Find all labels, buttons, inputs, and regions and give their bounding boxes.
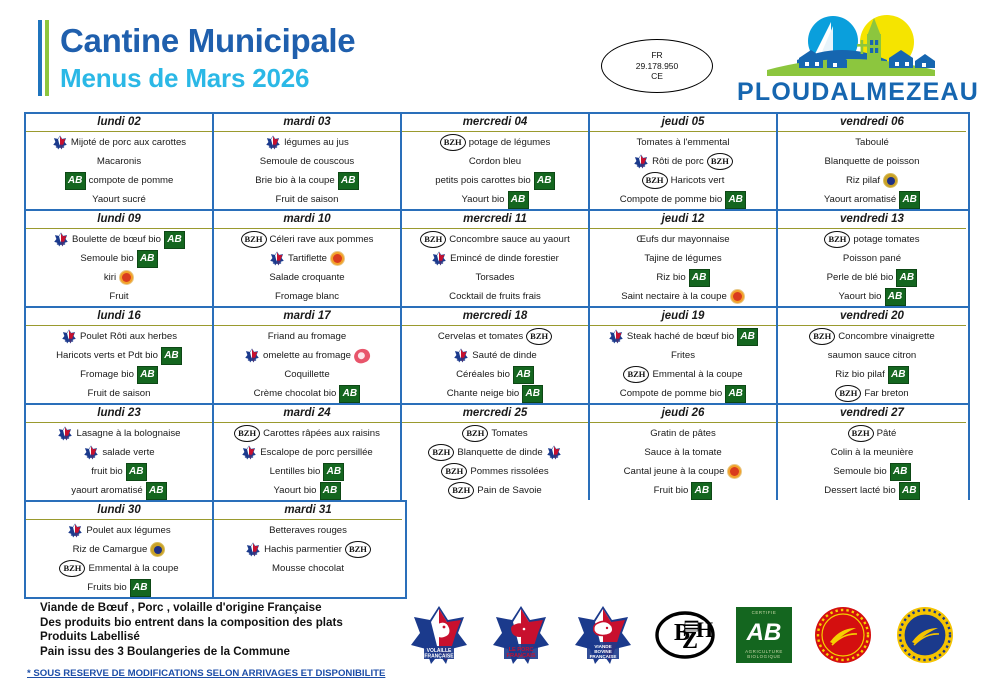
dish-label: Compote de pomme bio [620, 194, 722, 205]
menu-day-cell: jeudi 12Œufs dur mayonnaiseTajine de lég… [590, 211, 778, 306]
ab-icon: AB [130, 579, 151, 597]
approval-ce: CE [651, 71, 663, 82]
day-dish-list: Boulette de bœuf bioABSemoule bioABkiriF… [26, 229, 212, 306]
cheese-icon [119, 270, 134, 285]
bzh-letters: BZH [441, 135, 465, 150]
dish-label: Steak haché de bœuf bio [627, 331, 734, 342]
ab-icon: AB [522, 385, 543, 403]
dish-label: Œufs dur mayonnaise [636, 234, 729, 245]
ab-bottom-caption: AGRICULTURE BIOLOGIQUE [736, 649, 792, 659]
menu-day-cell: mercredi 04BZHpotage de légumesCordon bl… [402, 114, 590, 209]
ab-letters: AB [131, 580, 150, 596]
menu-day-cell: lundi 16Poulet Rôti aux herbesHaricots v… [26, 308, 214, 403]
ab-icon: AB [513, 366, 534, 384]
dish-label: Carottes râpées aux raisins [263, 428, 380, 439]
dish-label: Fromage bio [80, 369, 134, 380]
ab-icon: AB [888, 366, 909, 384]
menu-day-cell: lundi 23Lasagne à la bolognaisesalade ve… [26, 405, 214, 500]
day-dish-list: BZHCéleri rave aux pommesTartifletteSala… [214, 229, 400, 306]
dish-label: Emmental à la coupe [88, 563, 178, 574]
day-header: mardi 17 [214, 308, 400, 326]
day-header: jeudi 12 [590, 211, 776, 229]
bzh-icon: BZH [428, 444, 454, 461]
ab-letters: AB [523, 386, 542, 402]
menu-dish-row: omelette au fromage [216, 346, 398, 365]
day-header: mercredi 18 [402, 308, 588, 326]
day-header: mercredi 11 [402, 211, 588, 229]
ab-letters: AB [66, 173, 85, 189]
menu-dish-row: Riz bioAB [592, 268, 774, 287]
dish-label: Colin à la meunière [831, 447, 914, 458]
star-icon [608, 329, 624, 344]
dish-label: Semoule bio [833, 466, 886, 477]
menu-dish-row: Fruits bioAB [28, 578, 210, 597]
volaille-francaise-logo: VOLAILLE FRANÇAISE [408, 604, 470, 666]
dish-label: Riz de Camargue [73, 544, 148, 555]
dish-label: Yaourt sucré [92, 194, 146, 205]
day-header: lundi 09 [26, 211, 212, 229]
menu-dish-row: BZHBlanquette de dinde [404, 443, 586, 462]
dish-label: Crème chocolat bio [254, 388, 337, 399]
ab-letters: AB [138, 367, 157, 383]
ab-icon: AB [65, 172, 86, 190]
menu-dish-row: Boulette de bœuf bioAB [28, 230, 210, 249]
star-icon [453, 348, 469, 363]
cheese-icon [727, 464, 742, 479]
menu-week-row: lundi 02Mijoté de porc aux carottesMacar… [24, 112, 970, 209]
menu-dish-row: Poulet aux légumes [28, 521, 210, 540]
svg-text:FRANÇAISE: FRANÇAISE [424, 654, 454, 660]
footer-note: Viande de Bœuf , Porc , volaille d'origi… [40, 601, 343, 616]
dish-label: Céleri rave aux pommes [270, 234, 374, 245]
ab-icon: AB [725, 385, 746, 403]
dish-label: Cordon bleu [469, 156, 521, 167]
menu-dish-row: Cocktail de fruits frais [404, 287, 586, 306]
day-dish-list: Mijoté de porc aux carottesMacaronisABco… [26, 132, 212, 209]
menu-dish-row: BZHTomates [404, 424, 586, 443]
cheese-icon [330, 251, 345, 266]
menu-dish-row: BZHpotage tomates [780, 230, 964, 249]
menu-dish-row: Escalope de porc persillée [216, 443, 398, 462]
sanitary-approval-stamp: FR 29.178.950 CE [601, 39, 713, 93]
dish-label: Fromage blanc [275, 291, 339, 302]
dish-label: Cantal jeune à la coupe [624, 466, 725, 477]
menu-day-cell: lundi 02Mijoté de porc aux carottesMacar… [26, 114, 214, 209]
menu-dish-row: BZHCéleri rave aux pommes [216, 230, 398, 249]
ploudalmezeau-wordmark: PLOUDALMEZEAU [737, 78, 957, 107]
menu-dish-row: Lasagne à la bolognaise [28, 424, 210, 443]
menu-dish-row: Œufs dur mayonnaise [592, 230, 774, 249]
cheese-icon [730, 289, 745, 304]
day-header: vendredi 20 [778, 308, 966, 326]
ab-agriculture-biologique-logo: CERTIFIE AB AGRICULTURE BIOLOGIQUE [736, 607, 792, 663]
menu-dish-row: Perle de blé bioAB [780, 268, 964, 287]
ab-letters: AB [535, 173, 554, 189]
day-dish-list: légumes au jusSemoule de couscousBrie bi… [214, 132, 400, 209]
day-dish-list: Friand au fromageomelette au fromageCoqu… [214, 326, 400, 403]
menu-dish-row: Fruit bioAB [592, 481, 774, 500]
dish-label: Salade croquante [269, 272, 344, 283]
ab-icon: AB [137, 250, 158, 268]
menu-dish-row: Hachis parmentierBZH [216, 540, 400, 559]
dish-label: Yaourt bio [838, 291, 881, 302]
dish-label: Riz bio [656, 272, 685, 283]
bzh-icon: BZH [623, 366, 649, 383]
day-header: vendredi 27 [778, 405, 966, 423]
dish-label: Sauté de dinde [472, 350, 537, 361]
dish-label: Concombre vinaigrette [838, 331, 935, 342]
ab-icon: AB [534, 172, 555, 190]
menu-dish-row: Fromage blanc [216, 287, 398, 306]
dish-label: Macaronis [97, 156, 141, 167]
star-icon [83, 445, 99, 460]
dish-label: Haricots verts et Pdt bio [56, 350, 158, 361]
day-header: mardi 31 [214, 502, 402, 520]
ab-icon: AB [323, 463, 344, 481]
page-title: Cantine Municipale [60, 22, 355, 60]
dish-label: Semoule de couscous [260, 156, 354, 167]
menu-day-cell: mardi 10BZHCéleri rave aux pommesTartifl… [214, 211, 402, 306]
dish-label: Riz bio pilaf [835, 369, 885, 380]
menu-dish-row: Semoule bioAB [28, 249, 210, 268]
menu-week-row: lundi 09Boulette de bœuf bioABSemoule bi… [24, 209, 970, 306]
day-header: lundi 23 [26, 405, 212, 423]
ab-letters: AB [340, 386, 359, 402]
menu-dish-row: Emincé de dinde forestier [404, 249, 586, 268]
star-icon [633, 154, 649, 169]
menu-dish-row: BZHHaricots vert [592, 171, 774, 190]
star-icon [431, 251, 447, 266]
bzh-letters: BZH [810, 329, 834, 344]
ab-icon: AB [164, 231, 185, 249]
dish-label: Friand au fromage [268, 331, 346, 342]
ab-letters: AB [514, 367, 533, 383]
bzh-icon: BZH [441, 463, 467, 480]
menu-day-cell: vendredi 20BZHConcombre vinaigrettesaumo… [778, 308, 966, 403]
bzh-icon: BZH [462, 425, 488, 442]
menu-dish-row: ABcompote de pomme [28, 171, 210, 190]
menu-dish-row: Yaourt bioAB [216, 481, 398, 500]
day-dish-list: TabouléBlanquette de poissonRiz pilafYao… [778, 132, 966, 209]
bzh-icon: BZH [809, 328, 835, 345]
menu-dish-row: légumes au jus [216, 133, 398, 152]
menu-dish-row: Crème chocolat bioAB [216, 384, 398, 403]
ab-icon: AB [126, 463, 147, 481]
aop-logo [812, 604, 874, 666]
menu-dish-row: Chante neige bioAB [404, 384, 586, 403]
star-icon [244, 348, 260, 363]
menu-week-row: lundi 30Poulet aux légumesRiz de Camargu… [24, 500, 407, 599]
bzh-icon: BZH [835, 385, 861, 402]
day-header: vendredi 06 [778, 114, 966, 132]
accent-bar-blue [38, 20, 42, 96]
dish-label: Céréales bio [456, 369, 510, 380]
menu-dish-row: Riz bio pilafAB [780, 365, 964, 384]
day-header: vendredi 13 [778, 211, 966, 229]
approval-number: 29.178.950 [636, 61, 679, 72]
dish-label: Blanquette de dinde [457, 447, 542, 458]
ab-letters: AB [889, 367, 908, 383]
bzh-letters: BZH [60, 561, 84, 576]
menu-dish-row: Coquillette [216, 365, 398, 384]
egg-icon [352, 346, 372, 365]
day-header: lundi 02 [26, 114, 212, 132]
dish-label: Poisson pané [843, 253, 901, 264]
ab-icon: AB [890, 463, 911, 481]
ab-letters: AB [147, 483, 166, 499]
ab-letters: AB [509, 192, 528, 208]
ab-letters: AB [138, 251, 157, 267]
star-icon [52, 135, 68, 150]
menu-dish-row: BZHPommes rissolées [404, 462, 586, 481]
svg-text:H: H [696, 617, 713, 642]
bzh-letters: BZH [825, 232, 849, 247]
bzh-icon: BZH [642, 172, 668, 189]
menu-dish-row: BZHConcombre sauce au yaourt [404, 230, 586, 249]
dish-label: Fruit [109, 291, 128, 302]
menu-day-cell: vendredi 27BZHPâtéColin à la meunièreSem… [778, 405, 966, 500]
menu-dish-row: Mijoté de porc aux carottes [28, 133, 210, 152]
star-icon [61, 329, 77, 344]
star-icon [67, 523, 83, 538]
dish-label: Mijoté de porc aux carottes [71, 137, 186, 148]
menu-dish-row: petits pois carottes bioAB [404, 171, 586, 190]
bzh-icon: BZH [848, 425, 874, 442]
dish-label: Tomates [491, 428, 527, 439]
dish-label: Brie bio à la coupe [255, 175, 334, 186]
day-header: mercredi 04 [402, 114, 588, 132]
menu-day-cell: mardi 31Betteraves rougesHachis parmenti… [214, 502, 402, 597]
day-dish-list: Tomates à l'emmentalRôti de porcBZHBZHHa… [590, 132, 776, 209]
dish-label: Pâté [877, 428, 897, 439]
menu-day-cell: lundi 09Boulette de bœuf bioABSemoule bi… [26, 211, 214, 306]
dish-label: Mousse chocolat [272, 563, 344, 574]
ab-letters: AB [738, 329, 757, 345]
footer-note: Produits Labellisé [40, 630, 343, 645]
day-header: jeudi 26 [590, 405, 776, 423]
ab-letters: AB [736, 620, 792, 646]
menu-dish-row: Yaourt aromatiséAB [780, 190, 964, 209]
ab-letters: AB [339, 173, 358, 189]
day-dish-list: BZHPâtéColin à la meunièreSemoule bioABD… [778, 423, 966, 500]
bzh-letters: BZH [849, 426, 873, 441]
ab-icon: AB [338, 172, 359, 190]
bzh-letters: BZH [429, 445, 453, 460]
menu-dish-row: Compote de pomme bioAB [592, 190, 774, 209]
menu-dish-row: BZHEmmental à la coupe [28, 559, 210, 578]
day-dish-list: Poulet aux légumesRiz de CamargueBZHEmme… [26, 520, 212, 597]
day-header: jeudi 19 [590, 308, 776, 326]
day-header: jeudi 05 [590, 114, 776, 132]
dish-label: Frites [671, 350, 695, 361]
menu-dish-row: Dessert lacté bioAB [780, 481, 964, 500]
title-accent-bars [38, 20, 50, 96]
menu-dish-row: Colin à la meunière [780, 443, 964, 462]
menu-dish-row: Poisson pané [780, 249, 964, 268]
menu-dish-row: BZHConcombre vinaigrette [780, 327, 964, 346]
ab-icon: AB [725, 191, 746, 209]
dish-label: Tajine de légumes [644, 253, 721, 264]
menu-dish-row: Blanquette de poisson [780, 152, 964, 171]
ab-letters: AB [321, 483, 340, 499]
menu-dish-row: Semoule bioAB [780, 462, 964, 481]
bzh-letters: BZH [708, 154, 732, 169]
ab-letters: AB [886, 289, 905, 305]
fish-icon [883, 173, 898, 188]
reserve-notice: * SOUS RESERVE DE MODIFICATIONS SELON AR… [27, 668, 385, 679]
bzh-letters: BZH [346, 542, 370, 557]
dish-label: Blanquette de poisson [825, 156, 920, 167]
day-dish-list: BZHpotage de légumesCordon bleupetits po… [402, 132, 588, 209]
dish-label: Saint nectaire à la coupe [621, 291, 727, 302]
dish-label: Perle de blé bio [827, 272, 894, 283]
menu-dish-row: Fruit [28, 287, 210, 306]
menu-dish-row: saumon sauce citron [780, 346, 964, 365]
igp-logo [894, 604, 956, 666]
page-header: Cantine Municipale Menus de Mars 2026 FR… [0, 0, 994, 108]
ab-letters: AB [891, 464, 910, 480]
menu-dish-row: Saint nectaire à la coupe [592, 287, 774, 306]
menu-dish-row: Gratin de pâtes [592, 424, 774, 443]
menu-dish-row: Rôti de porcBZH [592, 152, 774, 171]
ab-icon: AB [689, 269, 710, 287]
certification-logos: VOLAILLE FRANÇAISE LE PORC FRANÇAIS [408, 604, 956, 666]
dish-label: Fruit de saison [88, 388, 151, 399]
dish-label: Cocktail de fruits frais [449, 291, 541, 302]
dish-label: Concombre sauce au yaourt [449, 234, 570, 245]
menu-dish-row: kiri [28, 268, 210, 287]
dish-label: Riz pilaf [846, 175, 880, 186]
dish-label: Emmental à la coupe [652, 369, 742, 380]
ploudalmezeau-emblem [737, 14, 957, 80]
day-dish-list: BZHCarottes râpées aux raisinsEscalope d… [214, 423, 400, 500]
menu-day-cell: mardi 03légumes au jusSemoule de couscou… [214, 114, 402, 209]
day-dish-list: Gratin de pâtesSauce à la tomateCantal j… [590, 423, 776, 500]
star-icon [241, 445, 257, 460]
day-dish-list: BZHConcombre vinaigrettesaumon sauce cit… [778, 326, 966, 403]
day-dish-list: Lasagne à la bolognaisesalade vertefruit… [26, 423, 212, 500]
ab-icon: AB [320, 482, 341, 500]
ab-top-caption: CERTIFIE [736, 610, 792, 615]
menu-dish-row: Cordon bleu [404, 152, 586, 171]
menu-dish-row [216, 578, 400, 597]
menu-week-row: lundi 23Lasagne à la bolognaisesalade ve… [24, 403, 970, 500]
bzh-icon: BZH [241, 231, 267, 248]
day-header: lundi 16 [26, 308, 212, 326]
bzh-icon: BZH [59, 560, 85, 577]
menu-dish-row: Tartiflette [216, 249, 398, 268]
ab-icon: AB [146, 482, 167, 500]
ab-letters: AB [726, 192, 745, 208]
bzh-letters: BZH [235, 426, 259, 441]
dish-label: Fruit bio [654, 485, 689, 496]
fish-icon [150, 542, 165, 557]
dish-label: kiri [104, 272, 116, 283]
ab-icon: AB [899, 191, 920, 209]
menu-dish-row: Céréales bioAB [404, 365, 586, 384]
dish-label: compote de pomme [89, 175, 174, 186]
dish-label: Poulet aux légumes [86, 525, 170, 536]
dish-label: petits pois carottes bio [435, 175, 530, 186]
menu-dish-row: fruit bioAB [28, 462, 210, 481]
menu-dish-row: Fruit de saison [28, 384, 210, 403]
menu-day-cell: jeudi 05Tomates à l'emmentalRôti de porc… [590, 114, 778, 209]
ab-letters: AB [127, 464, 146, 480]
menu-dish-row: BZHFar breton [780, 384, 964, 403]
menu-dish-row: BZHEmmental à la coupe [592, 365, 774, 384]
dish-label: Cervelas et tomates [438, 331, 523, 342]
dish-label: Fruit de saison [276, 194, 339, 205]
menu-dish-row: Riz de Camargue [28, 540, 210, 559]
menu-dish-row: salade verte [28, 443, 210, 462]
ab-icon: AB [508, 191, 529, 209]
dish-label: Far breton [864, 388, 908, 399]
dish-label: Tartiflette [288, 253, 327, 264]
star-icon [269, 251, 285, 266]
menu-dish-row: Yaourt bioAB [404, 190, 586, 209]
dish-label: saumon sauce citron [828, 350, 917, 361]
day-dish-list: BZHConcombre sauce au yaourtEmincé de di… [402, 229, 588, 306]
bzh-icon: BZH [420, 231, 446, 248]
menu-dish-row: Brie bio à la coupeAB [216, 171, 398, 190]
dish-label: Rôti de porc [652, 156, 704, 167]
dish-label: Pommes rissolées [470, 466, 548, 477]
menu-dish-row: Haricots verts et Pdt bioAB [28, 346, 210, 365]
dish-label: Tomates à l'emmental [636, 137, 729, 148]
dish-label: Lentilles bio [270, 466, 321, 477]
dish-label: Lasagne à la bolognaise [76, 428, 180, 439]
bzh-letters: BZH [242, 232, 266, 247]
footer-note: Des produits bio entrent dans la composi… [40, 616, 343, 631]
dish-label: Chante neige bio [447, 388, 520, 399]
bzh-icon: BZH [707, 153, 733, 170]
menu-dish-row: BZHPâté [780, 424, 964, 443]
menu-day-cell: mercredi 25BZHTomatesBZHBlanquette de di… [402, 405, 590, 500]
menu-dish-row: Cantal jeune à la coupe [592, 462, 774, 481]
day-dish-list: BZHTomatesBZHBlanquette de dindeBZHPomme… [402, 423, 588, 500]
bzh-letters: BZH [421, 232, 445, 247]
ab-icon: AB [899, 482, 920, 500]
dish-label: Boulette de bœuf bio [72, 234, 161, 245]
menu-dish-row: Riz pilaf [780, 171, 964, 190]
ab-letters: AB [726, 386, 745, 402]
day-header: mardi 03 [214, 114, 400, 132]
bzh-letters: BZH [442, 464, 466, 479]
bzh-letters: BZH [463, 426, 487, 441]
menu-dish-row: Steak haché de bœuf bioAB [592, 327, 774, 346]
menu-dish-row: Mousse chocolat [216, 559, 400, 578]
menu-day-cell: lundi 30Poulet aux légumesRiz de Camargu… [26, 502, 214, 597]
dish-label: Coquillette [284, 369, 329, 380]
day-header: mercredi 25 [402, 405, 588, 423]
dish-label: omelette au fromage [263, 350, 351, 361]
star-icon [546, 445, 562, 460]
menu-dish-row: Betteraves rouges [216, 521, 400, 540]
star-icon [57, 426, 73, 441]
dish-label: Yaourt bio [273, 485, 316, 496]
menu-dish-row: Yaourt bioAB [780, 287, 964, 306]
bzh-icon: BZH [440, 134, 466, 151]
dish-label: Fruits bio [87, 582, 126, 593]
star-icon [53, 232, 69, 247]
menu-day-cell: mardi 24BZHCarottes râpées aux raisinsEs… [214, 405, 402, 500]
ab-icon: AB [137, 366, 158, 384]
svg-text:FRANÇAIS: FRANÇAIS [507, 653, 536, 659]
menu-dish-row: Yaourt sucré [28, 190, 210, 209]
dish-label: potage tomates [853, 234, 919, 245]
dish-label: Gratin de pâtes [650, 428, 716, 439]
bzh-icon: BZH [824, 231, 850, 248]
